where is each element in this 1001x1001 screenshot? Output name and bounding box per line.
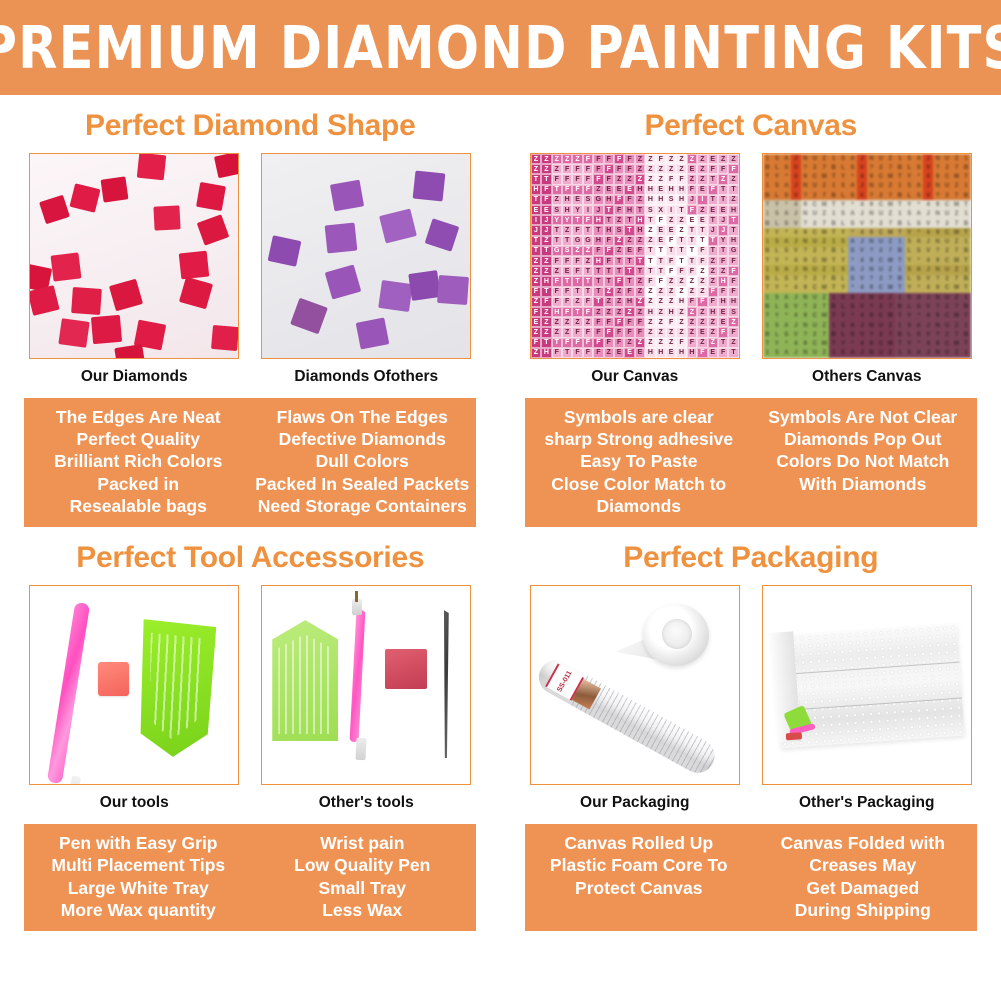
wax-square-icon — [385, 649, 427, 689]
diamond-bead — [179, 251, 210, 280]
feature-line: With Diamonds — [755, 473, 971, 495]
caption-others-tools: Other's tools — [255, 794, 477, 812]
feature-box-packaging: Canvas Rolled Up Plastic Foam Core To Pr… — [525, 824, 977, 931]
feature-list-theirs-packaging: Canvas Folded with Creases May Get Damag… — [751, 832, 975, 921]
pink-symbol-canvas-photo: ZZZZZFFFFFZZFZZZZEZZZZZFFFFFFFZZZZZEZFFF… — [530, 153, 740, 359]
feature-line: The Edges Are Neat — [30, 406, 246, 428]
section-title-canvas: Perfect Canvas — [501, 109, 1001, 143]
feature-line: Defective Diamonds — [254, 428, 470, 450]
diamond-bead — [268, 235, 302, 266]
feature-box-tools: Pen with Easy Grip Multi Placement Tips … — [24, 824, 476, 931]
page-header: PREMIUM DIAMOND PAINTING KITS — [0, 0, 1001, 95]
feature-line: sharp Strong adhesive — [531, 428, 747, 450]
bubble-mailer-folded-photo — [762, 585, 972, 785]
caption-our-canvas: Our Canvas — [524, 368, 746, 386]
cell-our-tools: Our tools — [23, 585, 245, 812]
infographic-page: PREMIUM DIAMOND PAINTING KITS Perfect Di… — [0, 0, 1001, 1001]
feature-line: Close Color Match to — [531, 473, 747, 495]
feature-line: More Wax quantity — [30, 899, 246, 921]
feature-line: Diamonds — [531, 495, 747, 517]
blurry-symbol-grid: 15AJNUZ15AJNUZ15AJNUZ1BLSV?27BLSV?27BLSV… — [763, 154, 971, 358]
feature-line: Less Wax — [254, 899, 470, 921]
page-title: PREMIUM DIAMOND PAINTING KITS — [0, 13, 1001, 82]
diamond-bead — [196, 182, 226, 211]
feature-line: Diamonds Pop Out — [755, 428, 971, 450]
feature-list-theirs-tools: Wrist pain Low Quality Pen Small Tray Le… — [250, 832, 474, 921]
section-packaging: Perfect Packaging SS-011 — [501, 527, 1001, 931]
tube-label-text: SS-011 — [554, 667, 575, 697]
feature-line: Perfect Quality — [30, 428, 246, 450]
section-diamond-shape: Perfect Diamond Shape — [0, 95, 501, 527]
feature-line: Packed in — [30, 473, 246, 495]
cell-others-diamonds: Diamonds Ofothers — [255, 153, 477, 386]
pen-base-icon — [356, 738, 367, 760]
cell-our-diamonds: Our Diamonds — [23, 153, 245, 386]
feature-line: Plastic Foam Core To — [531, 854, 747, 876]
wax-peek — [785, 732, 801, 740]
feature-line: Canvas Folded with — [755, 832, 971, 854]
feature-line: Colors Do Not Match — [755, 450, 971, 472]
caption-our-packaging: Our Packaging — [524, 794, 746, 812]
diamond-bead — [325, 223, 358, 254]
wax-square-icon — [98, 662, 129, 696]
photo-pair-tools: Our tools Other's tools — [0, 585, 501, 812]
cell-our-packaging: SS-011 Our Packaging — [524, 585, 746, 812]
cell-others-tools: Other's tools — [255, 585, 477, 812]
section-title-diamond-shape: Perfect Diamond Shape — [0, 109, 501, 143]
section-row-top: Perfect Diamond Shape — [0, 95, 1001, 527]
feature-line: Small Tray — [254, 877, 470, 899]
diamond-bead — [409, 270, 441, 301]
diamond-bead — [413, 171, 446, 202]
diamond-bead — [211, 325, 239, 351]
diamond-bead — [154, 205, 181, 230]
green-tray-pen-wax-tweezers-photo — [261, 585, 471, 785]
feature-line: Creases May — [755, 854, 971, 876]
feature-line: Wrist pain — [254, 832, 470, 854]
section-title-packaging: Perfect Packaging — [501, 541, 1001, 575]
rolled-canvas-tube-photo: SS-011 — [530, 585, 740, 785]
diamond-bead — [59, 318, 90, 348]
feature-line: Packed In Sealed Packets — [254, 473, 470, 495]
section-row-bottom: Perfect Tool Accessories Our tools — [0, 527, 1001, 931]
feature-line: Resealable bags — [30, 495, 246, 517]
diamond-bead — [91, 315, 122, 344]
pink-pen-green-tray-wax-photo — [29, 585, 239, 785]
photo-pair-canvas: ZZZZZFFFFFZZFZZZZEZZZZZFFFFFFFZZZZZEZFFF… — [501, 153, 1001, 386]
symbol-grid: ZZZZZFFFFFZZFZZZZEZZZZZFFFFFFFZZZZZEZFFF… — [531, 154, 739, 358]
cell-others-canvas: 15AJNUZ15AJNUZ15AJNUZ1BLSV?27BLSV?27BLSV… — [756, 153, 978, 386]
feature-line: Flaws On The Edges — [254, 406, 470, 428]
feature-box-diamond-shape: The Edges Are Neat Perfect Quality Brill… — [24, 398, 476, 527]
diamond-bead — [356, 317, 390, 349]
pen-needle-icon — [355, 591, 358, 602]
feature-list-theirs-diamonds: Flaws On The Edges Defective Diamonds Du… — [250, 406, 474, 517]
purple-square-diamonds-photo — [261, 153, 471, 359]
diamond-bead — [214, 153, 239, 178]
diamond-bead — [378, 280, 413, 312]
section-canvas: Perfect Canvas ZZZZZFFFFFZZFZZZZEZZZZZFF… — [501, 95, 1001, 527]
feature-list-ours-canvas: Symbols are clear sharp Strong adhesive … — [527, 406, 751, 517]
diamond-bead — [71, 287, 102, 315]
feature-line: Pen with Easy Grip — [30, 832, 246, 854]
cell-our-canvas: ZZZZZFFFFFZZFZZZZEZZZZZFFFFFFFZZZZZEZFFF… — [524, 153, 746, 386]
feature-line: Symbols are clear — [531, 406, 747, 428]
section-title-tools: Perfect Tool Accessories — [0, 541, 501, 575]
feature-line: Multi Placement Tips — [30, 854, 246, 876]
feature-line: Easy To Paste — [531, 450, 747, 472]
cell-others-packaging: Other's Packaging — [756, 585, 978, 812]
red-square-diamonds-photo — [29, 153, 239, 359]
diamond-bead — [437, 275, 469, 305]
feature-line: Protect Canvas — [531, 877, 747, 899]
feature-line: Dull Colors — [254, 450, 470, 472]
feature-line: Need Storage Containers — [254, 495, 470, 517]
blurry-color-canvas-photo: 15AJNUZ15AJNUZ15AJNUZ1BLSV?27BLSV?27BLSV… — [762, 153, 972, 359]
tube-cap-inner — [662, 619, 692, 649]
feature-list-ours-tools: Pen with Easy Grip Multi Placement Tips … — [26, 832, 250, 921]
mailer-contents-peek — [784, 705, 826, 742]
feature-line: Low Quality Pen — [254, 854, 470, 876]
feature-list-theirs-canvas: Symbols Are Not Clear Diamonds Pop Out C… — [751, 406, 975, 517]
caption-others-canvas: Others Canvas — [756, 368, 978, 386]
feature-line: During Shipping — [755, 899, 971, 921]
caption-our-diamonds: Our Diamonds — [23, 368, 245, 386]
feature-list-ours-diamonds: The Edges Are Neat Perfect Quality Brill… — [26, 406, 250, 517]
diamond-bead — [51, 252, 82, 281]
diamond-bead — [101, 176, 129, 202]
tray-grooves — [278, 634, 331, 734]
photo-pair-diamond-shape: Our Diamonds — [0, 153, 501, 386]
feature-line: Brilliant Rich Colors — [30, 450, 246, 472]
feature-box-canvas: Symbols are clear sharp Strong adhesive … — [525, 398, 977, 527]
feature-list-ours-packaging: Canvas Rolled Up Plastic Foam Core To Pr… — [527, 832, 751, 921]
feature-line: Large White Tray — [30, 877, 246, 899]
caption-others-diamonds: Diamonds Ofothers — [255, 368, 477, 386]
photo-pair-packaging: SS-011 Our Packaging — [501, 585, 1001, 812]
feature-line: Get Damaged — [755, 877, 971, 899]
section-tools: Perfect Tool Accessories Our tools — [0, 527, 501, 931]
feature-line: Canvas Rolled Up — [531, 832, 747, 854]
caption-others-packaging: Other's Packaging — [756, 794, 978, 812]
feature-line: Symbols Are Not Clear — [755, 406, 971, 428]
caption-our-tools: Our tools — [23, 794, 245, 812]
diamond-bead — [330, 180, 364, 212]
diamond-bead — [137, 153, 166, 180]
